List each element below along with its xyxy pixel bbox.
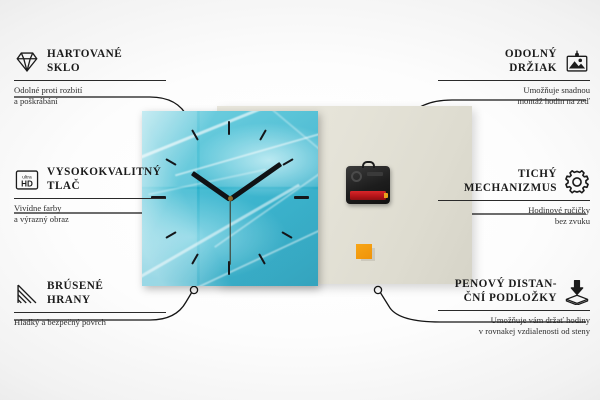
divider <box>438 200 590 201</box>
divider <box>14 198 166 199</box>
feature-title: BRÚSENÉ HRANY <box>47 280 103 307</box>
clock-mechanism <box>346 166 390 204</box>
feature-title: TICHÝ MECHANIZMUS <box>464 168 557 195</box>
feature-foam-spacers: PENOVÝ DISTAN- ČNÍ PODLOŽKY Umožňuje vám… <box>438 278 590 337</box>
clock-tick <box>228 121 230 135</box>
beveled-edge-icon <box>14 281 40 307</box>
feature-desc-line1: Vivídne farby <box>14 203 166 214</box>
feature-desc-line2: v rovnakej vzdialenosti od steny <box>438 326 590 337</box>
gear-icon <box>564 169 590 195</box>
foam-pad-icon <box>564 279 590 305</box>
foam-spacer-pad <box>356 244 372 259</box>
feature-desc-line1: Umožňuje vám držať hodiny <box>438 315 590 326</box>
feature-title: VYSOKOKVALITNÝ TLAČ <box>47 166 161 193</box>
feature-header: ultra HD VYSOKOKVALITNÝ TLAČ <box>14 166 166 193</box>
product-photo <box>142 104 472 286</box>
picture-hanger-icon <box>564 49 590 75</box>
feature-desc-line2: a výrazný obraz <box>14 214 166 225</box>
battery <box>350 191 386 200</box>
clock-tick <box>294 196 309 199</box>
feature-high-quality-print: ultra HD VYSOKOKVALITNÝ TLAČ Vivídne far… <box>14 166 166 225</box>
feature-silent-mechanism: TICHÝ MECHANIZMUS Hodinové ručičky bez z… <box>438 168 590 227</box>
feature-desc-line1: Hladký a bezpečný povrch <box>14 317 166 328</box>
connector-dot-edges <box>190 286 197 293</box>
ultra-hd-icon: ultra HD <box>14 167 40 193</box>
feature-header: PENOVÝ DISTAN- ČNÍ PODLOŽKY <box>438 278 590 305</box>
feature-header: ODOLNÝ DRŽIAK <box>438 48 590 75</box>
feature-header: HARTOVANÉ SKLO <box>14 48 166 75</box>
feature-desc-line1: Umožňuje snadnou <box>438 85 590 96</box>
feature-desc-line1: Odolné proti rozbití <box>14 85 166 96</box>
feature-desc-line2: a poškrábání <box>14 96 166 107</box>
connector-dot-foam <box>374 286 381 293</box>
mechanism-hanger-icon <box>362 161 375 168</box>
feature-title: HARTOVANÉ SKLO <box>47 48 122 75</box>
diamond-icon <box>14 49 40 75</box>
mechanism-dial <box>351 171 362 182</box>
feature-header: BRÚSENÉ HRANY <box>14 280 166 307</box>
feature-beveled-edges: BRÚSENÉ HRANY Hladký a bezpečný povrch <box>14 280 166 328</box>
divider <box>438 80 590 81</box>
svg-text:HD: HD <box>21 179 33 188</box>
clock-face <box>142 111 318 286</box>
feature-header: TICHÝ MECHANIZMUS <box>438 168 590 195</box>
feature-desc-line1: Hodinové ručičky <box>438 205 590 216</box>
feature-desc-line2: montáž hodin na zeď <box>438 96 590 107</box>
feature-hardened-glass: HARTOVANÉ SKLO Odolné proti rozbití a po… <box>14 48 166 107</box>
feature-desc-line2: bez zvuku <box>438 216 590 227</box>
feature-durable-holder: ODOLNÝ DRŽIAK Umožňuje snadnou montáž ho… <box>438 48 590 107</box>
mechanism-label <box>367 172 383 176</box>
divider <box>14 312 166 313</box>
feature-title: PENOVÝ DISTAN- ČNÍ PODLOŽKY <box>455 278 557 305</box>
feature-title: ODOLNÝ DRŽIAK <box>505 48 557 75</box>
divider <box>438 310 590 311</box>
clock-center-pin <box>228 196 233 201</box>
divider <box>14 80 166 81</box>
clock-second-hand <box>229 199 230 265</box>
